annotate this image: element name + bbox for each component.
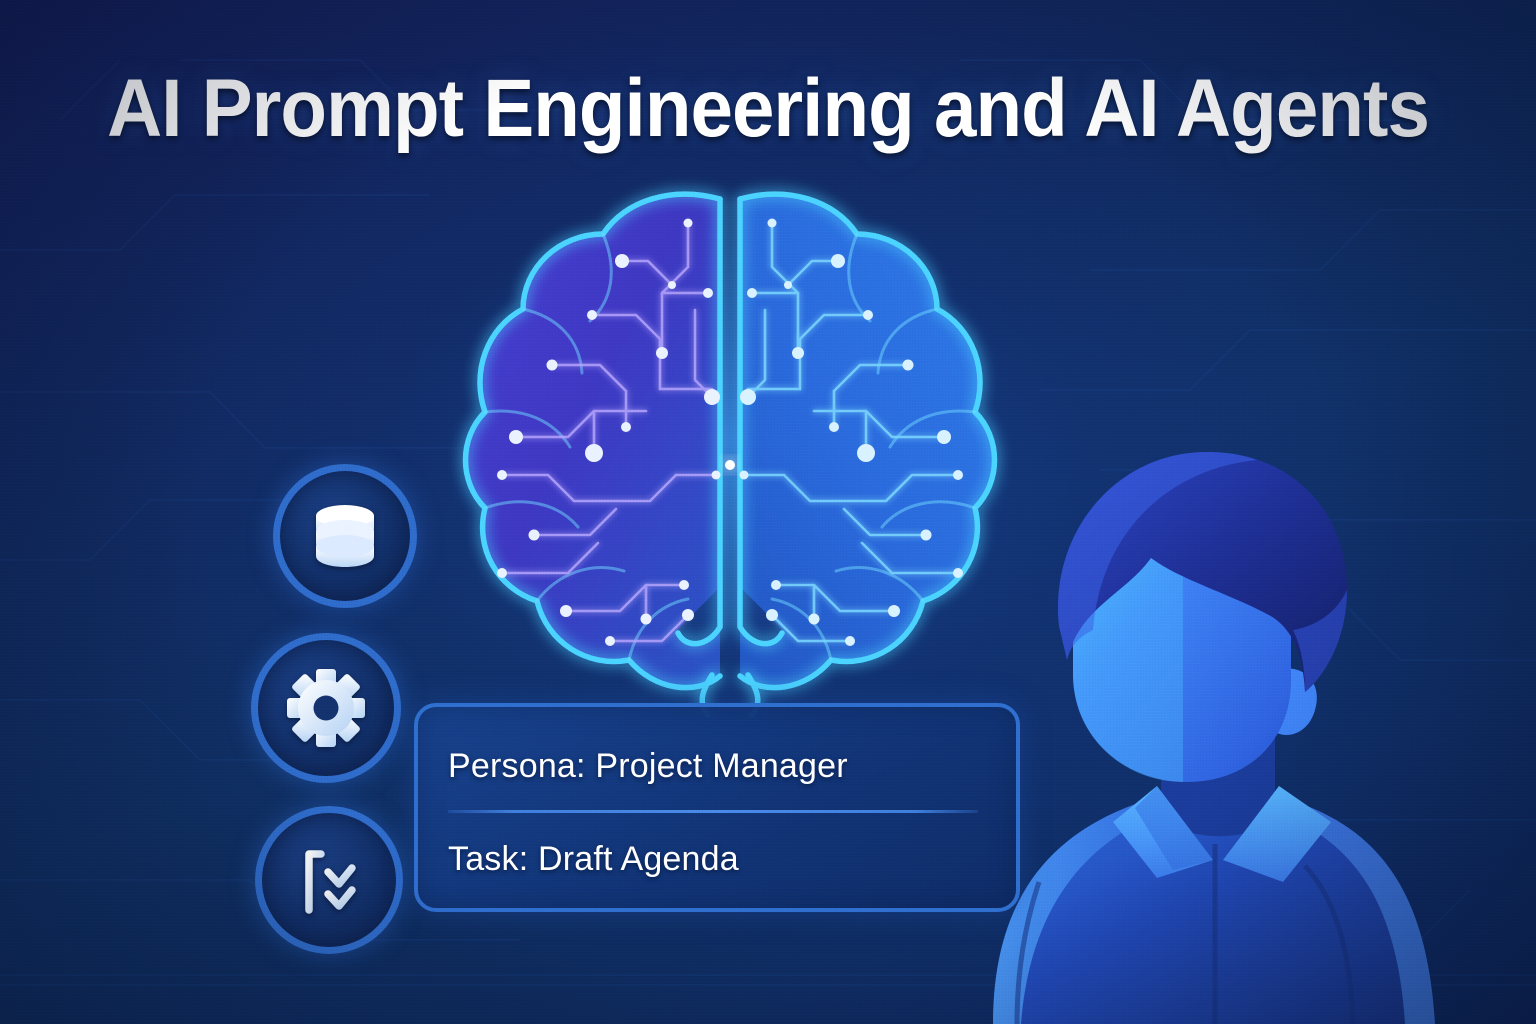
- checklist-icon[interactable]: [255, 806, 403, 954]
- person-avatar-graphic: [975, 430, 1535, 1024]
- poster-canvas: AI Prompt Engineering and AI Agents: [0, 0, 1536, 1024]
- prompt-card-divider: [448, 810, 978, 813]
- database-icon[interactable]: [273, 464, 417, 608]
- ai-brain-graphic: [440, 175, 1020, 720]
- prompt-persona-line: Persona: Project Manager: [448, 747, 996, 786]
- gear-icon-glyph: [284, 666, 368, 750]
- gear-icon[interactable]: [251, 633, 401, 783]
- checklist-icon-glyph: [289, 840, 369, 920]
- prompt-task-line: Task: Draft Agenda: [448, 840, 996, 879]
- page-title: AI Prompt Engineering and AI Agents: [54, 62, 1482, 156]
- database-icon-glyph: [307, 498, 383, 574]
- prompt-card[interactable]: Persona: Project Manager Task: Draft Age…: [414, 703, 1020, 912]
